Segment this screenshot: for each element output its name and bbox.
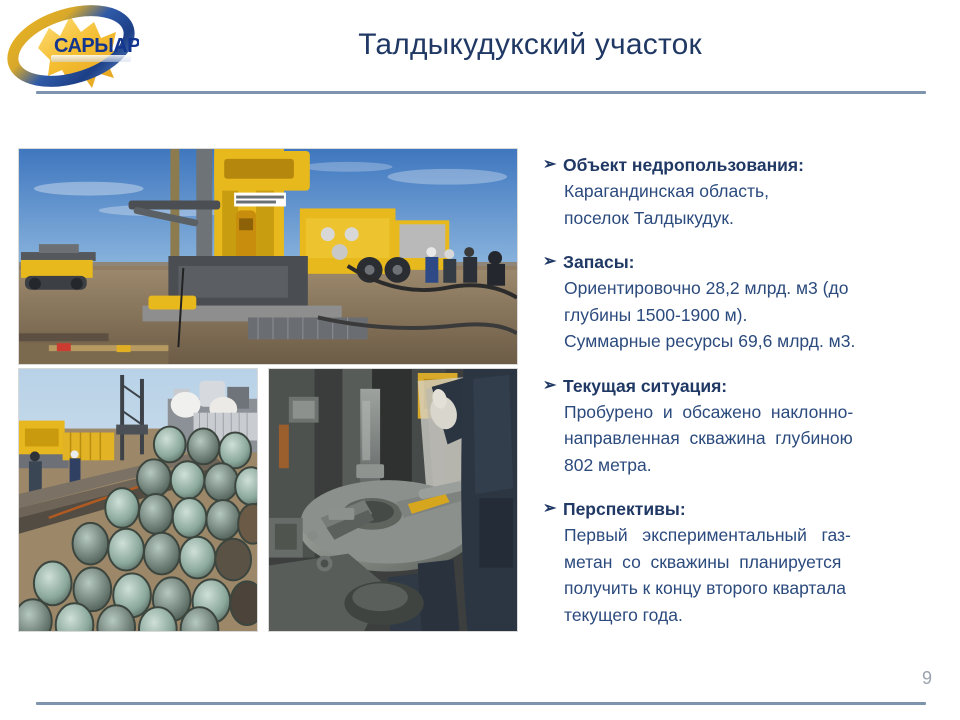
bullet-body-line: получить к концу второго квартала [564,575,943,602]
slide-root: САРЫАРКА Талдыкудукский участок [0,0,960,720]
bullet-heading: ➢ Текущая ситуация: [543,373,943,399]
photo-rotary-table [268,368,518,632]
bullet-group-reserves: ➢ Запасы: Ориентировочно 28,2 млрд. м3 (… [543,249,943,355]
footer-divider [36,702,926,705]
bullet-body-line: Карагандинская область, [564,178,943,205]
bullet-heading: ➢ Перспективы: [543,496,943,522]
bullet-body-line: Первый экспериментальный газ- [564,522,943,549]
photo-drilling-rig [18,148,518,365]
photo-drill-pipes-canvas [19,369,257,631]
bullet-body-line: глубины 1500-1900 м). [564,302,943,329]
bullet-body-line: 802 метра. [564,452,943,479]
bullet-heading: ➢ Объект недропользования: [543,152,943,178]
bullet-body-line: Пробурено и обсажено наклонно- [564,399,943,426]
bullet-body-line: направленная скважина глубиною [564,425,943,452]
bullet-heading-text: Перспективы: [563,496,943,522]
bullet-heading-text: Текущая ситуация: [563,373,943,399]
page-title: Талдыкудукский участок [150,28,910,62]
header-divider [36,91,926,94]
logo-wordmark: САРЫАРКА [54,35,139,57]
bullet-body-line: метан со скважины планируется [564,549,943,576]
bullet-heading: ➢ Запасы: [543,249,943,275]
arrow-bullet-icon: ➢ [543,496,563,522]
bullet-body-line: Ориентировочно 28,2 млрд. м3 (до [564,275,943,302]
arrow-bullet-icon: ➢ [543,249,563,275]
bullet-body-line: поселок Талдыкудук. [564,205,943,232]
saryarka-swoosh-star-logo: САРЫАРКА [4,2,139,90]
photo-drill-pipes-stack [18,368,258,632]
bullet-body-line: текущего года. [564,602,943,629]
bullet-heading-text: Объект недропользования: [563,152,943,178]
arrow-bullet-icon: ➢ [543,373,563,399]
bullet-body-line: Суммарные ресурсы 69,6 млрд. м3. [564,328,943,355]
bullet-content: ➢ Объект недропользования: Карагандинска… [543,152,943,628]
bullet-group-prospects: ➢ Перспективы: Первый экспериментальный … [543,496,943,628]
page-number: 9 [922,668,932,689]
bullet-group-object: ➢ Объект недропользования: Карагандинска… [543,152,943,231]
bullet-heading-text: Запасы: [563,249,943,275]
photo-rotary-table-canvas [269,369,517,631]
photo-drilling-rig-canvas [19,149,517,364]
arrow-bullet-icon: ➢ [543,152,563,178]
bullet-group-current-status: ➢ Текущая ситуация: Пробурено и обсажено… [543,373,943,479]
